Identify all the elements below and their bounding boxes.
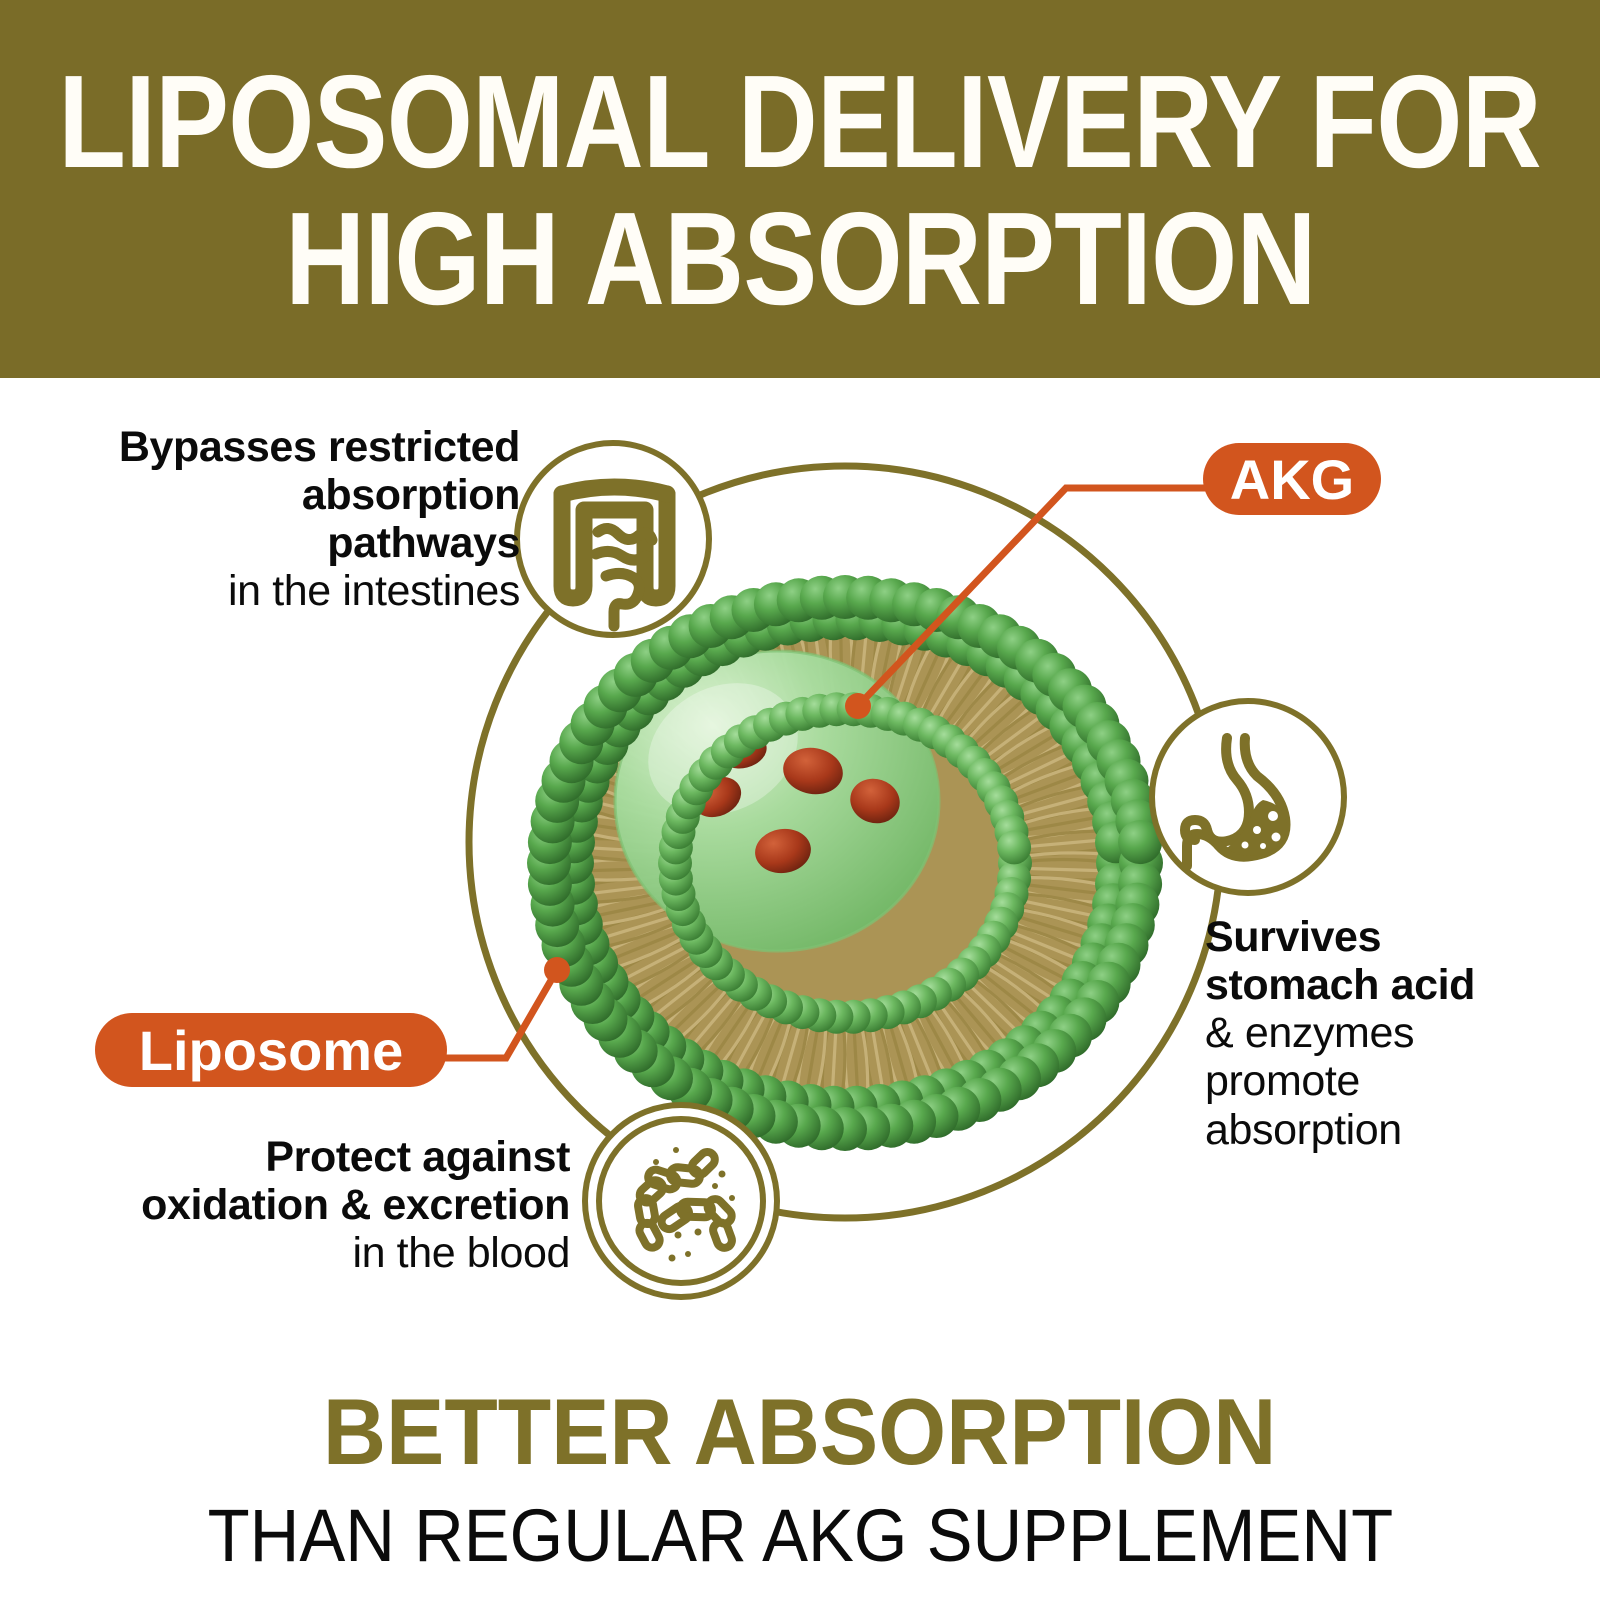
callout-blood-bold-2: oxidation & excretion (30, 1181, 570, 1229)
callout-intestines-bold-3: pathways (20, 519, 520, 567)
callout-intestines-reg-1: in the intestines (20, 567, 520, 615)
callout-stomach-reg-2: promote (1205, 1057, 1575, 1105)
callout-stomach-bold-2: stomach acid (1205, 961, 1575, 1009)
callout-intestines-bold-1: Bypasses restricted (20, 423, 520, 471)
callout-intestines-bold-2: absorption (20, 471, 520, 519)
bacteria-icon-bubble (578, 1098, 784, 1309)
bacteria-icon (578, 1098, 784, 1304)
headline-line-2: HIGH ABSORPTION (285, 198, 1316, 321)
callout-intestines: Bypasses restricted absorption pathways … (20, 423, 520, 616)
callout-stomach-reg-3: absorption (1205, 1106, 1575, 1154)
footer: BETTER ABSORPTION THAN REGULAR AKG SUPPL… (0, 1345, 1600, 1600)
callout-stomach: Survives stomach acid & enzymes promote … (1205, 913, 1575, 1154)
callout-blood-bold-1: Protect against (30, 1133, 570, 1181)
stomach-icon (1145, 694, 1351, 900)
intestine-icon (510, 436, 716, 642)
intestine-icon-bubble (510, 436, 716, 647)
callout-stomach-bold-1: Survives (1205, 913, 1575, 961)
badge-liposome[interactable]: Liposome (95, 1013, 447, 1087)
diagram-stage: Bypasses restricted absorption pathways … (0, 378, 1600, 1338)
headline-line-1: LIPOSOMAL DELIVERY FOR (59, 61, 1542, 184)
callout-stomach-reg-1: & enzymes (1205, 1009, 1575, 1057)
akg-pointer (845, 488, 1210, 719)
footer-headline: BETTER ABSORPTION (323, 1385, 1277, 1479)
callout-blood-reg-1: in the blood (30, 1229, 570, 1277)
stomach-icon-bubble (1145, 694, 1351, 905)
footer-subheadline: THAN REGULAR AKG SUPPLEMENT (207, 1499, 1393, 1573)
header-banner: LIPOSOMAL DELIVERY FOR HIGH ABSORPTION (0, 0, 1600, 378)
callout-blood: Protect against oxidation & excretion in… (30, 1133, 570, 1277)
badge-akg[interactable]: AKG (1203, 443, 1381, 515)
